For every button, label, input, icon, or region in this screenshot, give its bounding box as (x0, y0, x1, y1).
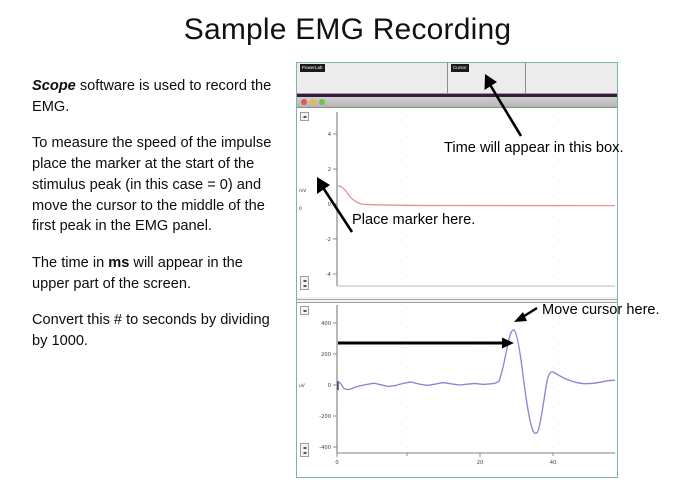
callout-move-cursor: Move cursor here. (542, 302, 660, 320)
ms-keyword: ms (108, 255, 129, 271)
svg-text:40: 40 (550, 460, 557, 466)
svg-text:uV: uV (299, 383, 305, 389)
instruction-paragraph-2: To measure the speed of the impulse plac… (32, 133, 282, 237)
scope-application-screenshot: PowerLab Cursor (296, 62, 618, 478)
svg-text:-400: -400 (319, 445, 331, 451)
menu-divider-1 (447, 63, 448, 93)
svg-text:mV: mV (299, 188, 306, 194)
page-title: Sample EMG Recording (0, 14, 695, 46)
svg-text:-4: -4 (326, 272, 332, 278)
svg-text:0: 0 (299, 206, 302, 212)
app-menu-bar[interactable]: PowerLab Cursor (297, 63, 617, 94)
instruction-paragraph-3-pre: The time in (32, 255, 108, 271)
svg-text:0: 0 (335, 460, 338, 466)
callout-time-box: Time will appear in this box. (444, 140, 624, 158)
svg-text:4: 4 (328, 132, 332, 138)
instruction-paragraph-3: The time in ms will appear in the upper … (32, 253, 282, 294)
svg-text:0: 0 (328, 202, 331, 208)
svg-text:400: 400 (321, 321, 331, 327)
channel-scale-control-stimulus[interactable] (300, 276, 309, 290)
stimulus-trace (338, 186, 615, 206)
menu-divider-2 (525, 63, 526, 93)
emg-chart-svg: 400 200 0 -200 -400 uV 0 (297, 303, 616, 476)
stimulus-channel-panel[interactable]: 4 2 0 -2 -4 mV 0 (297, 108, 617, 297)
scope-keyword: Scope (32, 78, 76, 94)
svg-text:-2: -2 (326, 237, 331, 243)
chart-panels: 4 2 0 -2 -4 mV 0 (297, 108, 617, 476)
cursor-measurement-arrow (338, 338, 514, 349)
instructions-panel: Scope software is used to record the EMG… (32, 76, 282, 352)
cursor-readout-label[interactable]: Cursor (451, 64, 469, 72)
zoom-icon[interactable] (319, 99, 325, 105)
close-icon[interactable] (301, 99, 307, 105)
svg-text:0: 0 (328, 383, 331, 389)
svg-text:20: 20 (477, 460, 484, 466)
emg-trace (338, 330, 615, 434)
svg-text:2: 2 (328, 167, 331, 173)
callout-place-marker: Place marker here. (352, 212, 475, 230)
minimize-icon[interactable] (310, 99, 316, 105)
channel-menu-button-stimulus[interactable] (300, 112, 309, 121)
window-title-bar[interactable] (297, 97, 617, 108)
emg-channel-panel[interactable]: 400 200 0 -200 -400 uV 0 (297, 303, 617, 476)
instruction-paragraph-1: Scope software is used to record the EMG… (32, 76, 282, 117)
svg-text:200: 200 (321, 352, 331, 358)
instruction-paragraph-4: Convert this # to seconds by dividing by… (32, 310, 282, 351)
channel-scale-control-emg[interactable] (300, 443, 309, 457)
channel-menu-button-emg[interactable] (300, 306, 309, 315)
svg-text:-200: -200 (319, 414, 331, 420)
stimulus-chart-svg: 4 2 0 -2 -4 mV 0 (297, 108, 616, 297)
powerlab-label[interactable]: PowerLab (300, 64, 325, 72)
